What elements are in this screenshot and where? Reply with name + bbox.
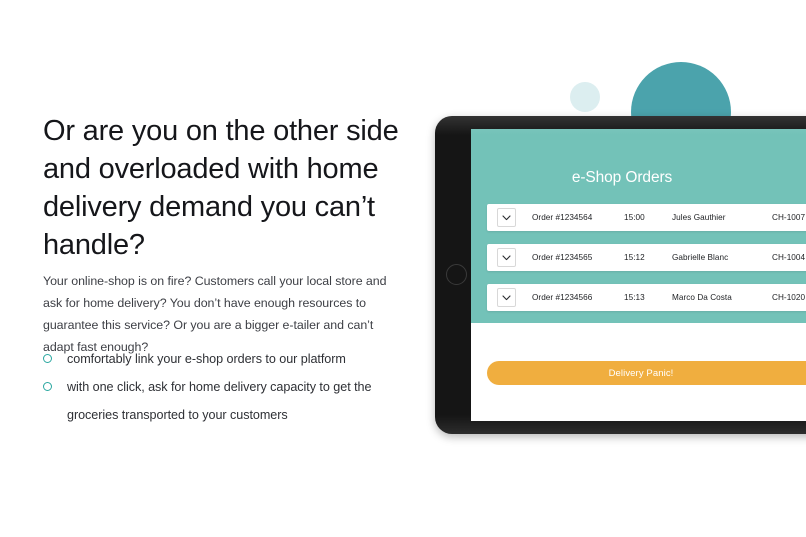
tablet-home-button[interactable] xyxy=(446,264,467,285)
list-item: comfortably link your e-shop orders to o… xyxy=(43,345,411,373)
circle-bullet-icon xyxy=(43,354,52,363)
order-time: 15:12 xyxy=(624,253,672,262)
table-row[interactable]: Order #1234566 15:13 Marco Da Costa CH-1… xyxy=(487,284,806,311)
circle-bullet-icon xyxy=(43,382,52,391)
order-customer: Marco Da Costa xyxy=(672,293,772,302)
page-title: Or are you on the other side and overloa… xyxy=(43,112,411,264)
list-item: with one click, ask for home delivery ca… xyxy=(43,373,411,429)
chevron-down-icon[interactable] xyxy=(497,288,516,307)
app-footer: Delivery Panic! xyxy=(471,323,806,421)
order-customer: Jules Gauthier xyxy=(672,213,772,222)
feature-bullet-list: comfortably link your e-shop orders to o… xyxy=(43,345,411,429)
table-row[interactable]: Order #1234564 15:00 Jules Gauthier CH-1… xyxy=(487,204,806,231)
decorative-small-circle xyxy=(570,82,600,112)
chevron-down-icon[interactable] xyxy=(497,248,516,267)
chevron-down-icon[interactable] xyxy=(497,208,516,227)
order-address: CH-1020 Renens xyxy=(772,293,806,302)
table-row[interactable]: Order #1234565 15:12 Gabrielle Blanc CH-… xyxy=(487,244,806,271)
order-id: Order #1234565 xyxy=(532,253,624,262)
tablet-device-mockup: e-Shop Orders Order #1234564 15:00 Jules… xyxy=(435,116,806,434)
list-item-label: with one click, ask for home delivery ca… xyxy=(67,380,371,422)
delivery-panic-button[interactable]: Delivery Panic! xyxy=(487,361,806,385)
order-address: CH-1007 Lausanne xyxy=(772,213,806,222)
order-id: Order #1234564 xyxy=(532,213,624,222)
app-title: e-Shop Orders xyxy=(471,169,806,187)
list-item-label: comfortably link your e-shop orders to o… xyxy=(67,352,346,366)
order-time: 15:00 xyxy=(624,213,672,222)
order-address: CH-1004 Lausanne xyxy=(772,253,806,262)
tablet-screen: e-Shop Orders Order #1234564 15:00 Jules… xyxy=(471,129,806,421)
order-time: 15:13 xyxy=(624,293,672,302)
app-header: e-Shop Orders Order #1234564 15:00 Jules… xyxy=(471,129,806,323)
marketing-copy-column: Or are you on the other side and overloa… xyxy=(43,112,413,264)
order-customer: Gabrielle Blanc xyxy=(672,253,772,262)
order-id: Order #1234566 xyxy=(532,293,624,302)
